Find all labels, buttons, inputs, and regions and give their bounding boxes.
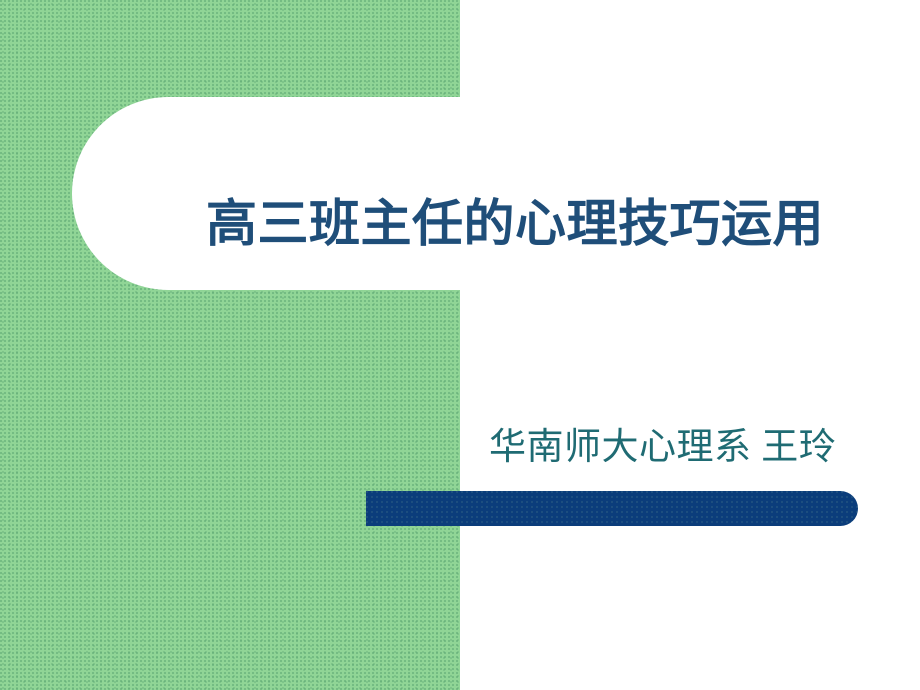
title-slide: 高三班主任的心理技巧运用 华南师大心理系 王玲 bbox=[0, 0, 920, 690]
accent-bar-shape bbox=[366, 491, 858, 526]
slide-title: 高三班主任的心理技巧运用 bbox=[206, 190, 806, 260]
slide-subtitle-author: 华南师大心理系 王玲 bbox=[489, 424, 889, 472]
